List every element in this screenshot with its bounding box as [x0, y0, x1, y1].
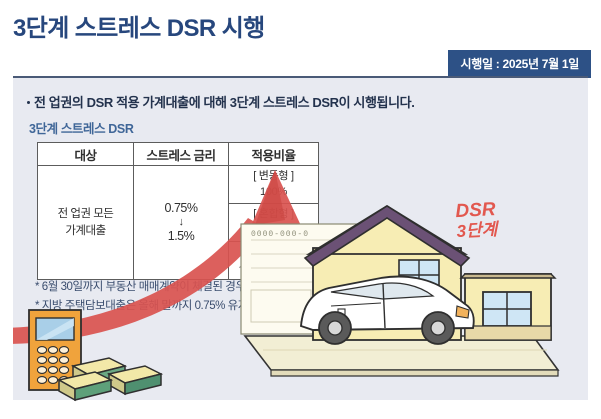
dsr-callout-line2: 3단계	[456, 220, 498, 241]
ratio-tag: [ 혼합형 ]	[229, 207, 318, 223]
ratio-value: 100%	[229, 185, 318, 201]
table-header-ratio: 적용비율	[229, 143, 319, 166]
dsr-callout-line1: DSR	[455, 199, 496, 222]
footnote-1: * 6월 30일까지 부동산 매매계약이 체결된 경우는 종전규정 적용	[35, 278, 322, 297]
cell-stress-rate: 0.75% ↓ 1.5%	[134, 166, 229, 280]
rate-to: 1.5%	[168, 229, 195, 243]
house-icon	[305, 206, 469, 340]
summary-bullet: 전 업권의 DSR 적용 가계대출에 대해 3단계 스트레스 DSR이 시행됩니…	[27, 92, 414, 111]
bullet-dot-icon	[27, 101, 30, 104]
content-panel: 전 업권의 DSR 적용 가계대출에 대해 3단계 스트레스 DSR이 시행됩니…	[13, 76, 588, 400]
table-header-rate: 스트레스 금리	[134, 143, 229, 166]
house-annex-icon	[461, 274, 555, 340]
rate-from: 0.75%	[165, 201, 198, 215]
cell-target-line1: 전 업권 모든	[58, 208, 114, 220]
arrow-down-icon: ↓	[134, 216, 228, 228]
ground-slab	[245, 336, 558, 376]
effective-date-badge: 시행일 : 2025년 7월 1일	[448, 50, 591, 78]
footnotes: * 6월 30일까지 부동산 매매계약이 체결된 경우는 종전규정 적용 * 지…	[35, 278, 322, 316]
cell-target: 전 업권 모든 가계대출	[38, 166, 134, 280]
page-title: 3단계 스트레스 DSR 시행	[13, 8, 265, 43]
table-header-row: 대상 스트레스 금리 적용비율	[38, 143, 319, 166]
cell-target-line2: 가계대출	[65, 225, 105, 237]
cell-ratio-variable: [ 변동형 ] 100%	[229, 166, 319, 204]
dsr-callout-label: DSR 3단계	[455, 199, 498, 241]
ratio-value: ~40% 차등적용	[229, 261, 318, 277]
ratio-tag: [ 주기형 ]	[229, 245, 318, 261]
ratio-value: ~80% 차등적용	[229, 223, 318, 239]
table-header-target: 대상	[38, 143, 134, 166]
car-icon	[301, 277, 474, 344]
footnote-2: * 지방 주택담보대출은 올해 말까지 0.75% 유지	[35, 297, 322, 316]
ratio-tag: [ 변동형 ]	[229, 169, 318, 185]
dsr-table: 대상 스트레스 금리 적용비율 전 업권 모든 가계대출 0.75% ↓ 1.5…	[37, 142, 319, 280]
cash-stacks-icon	[59, 358, 161, 400]
cell-ratio-periodic: [ 주기형 ] ~40% 차등적용	[229, 242, 319, 280]
cell-ratio-mixed: [ 혼합형 ] ~80% 차등적용	[229, 204, 319, 242]
summary-bullet-text: 전 업권의 DSR 적용 가계대출에 대해 3단계 스트레스 DSR이 시행됩니…	[34, 95, 414, 110]
calculator-icon	[29, 310, 81, 390]
table-caption: 3단계 스트레스 DSR	[29, 118, 134, 137]
table-row: 전 업권 모든 가계대출 0.75% ↓ 1.5% [ 변동형 ] 100%	[38, 166, 319, 204]
